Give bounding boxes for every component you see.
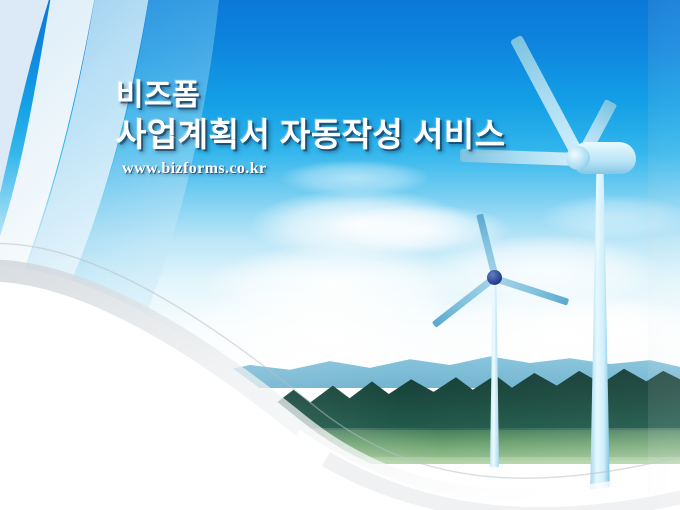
turbine-hub [566, 146, 590, 170]
page-title-line2: 사업계획서 자동작성 서비스 [116, 118, 506, 153]
page-title-line1: 비즈폼 [116, 80, 506, 112]
headline-block: 비즈폼 사업계획서 자동작성 서비스 www.bizforms.co.kr [116, 80, 506, 178]
turbine-hub [487, 270, 502, 285]
website-url: www.bizforms.co.kr [122, 160, 506, 178]
background-photo [0, 0, 680, 510]
turbine-tower [590, 168, 610, 498]
presentation-slide: 비즈폼 사업계획서 자동작성 서비스 www.bizforms.co.kr [0, 0, 680, 510]
